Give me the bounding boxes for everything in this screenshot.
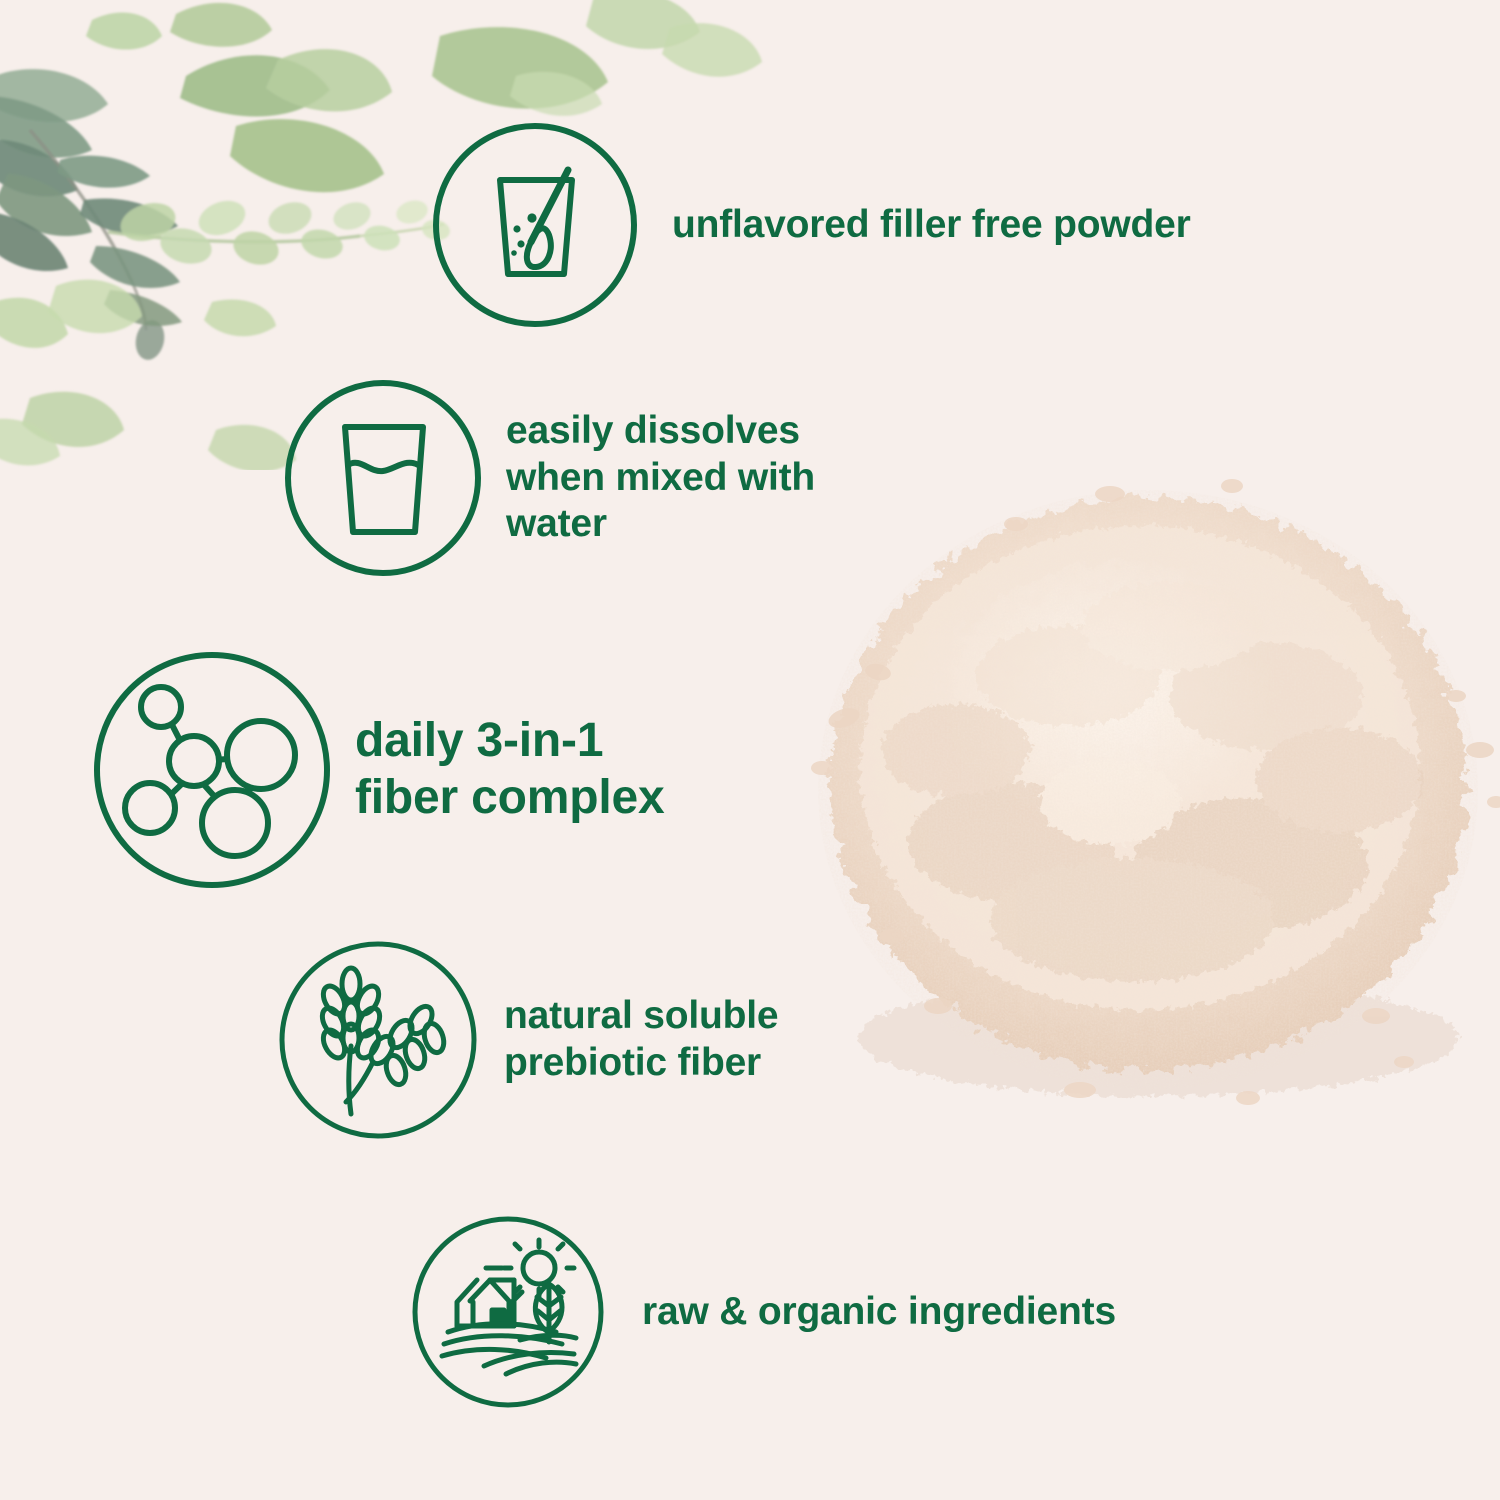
feature-icon-badge [278, 940, 478, 1140]
wheat-stalks-icon [278, 940, 478, 1140]
feature-natural-soluble-prebiotic-fiber: natural soluble prebiotic fiber [278, 940, 778, 1140]
feature-label: unflavored filler free powder [672, 202, 1191, 249]
feature-label: easily dissolves when mixed with water [506, 408, 815, 548]
fiber-powder-image [780, 450, 1500, 1150]
product-feature-infographic: unflavored filler free powder easily dis… [0, 0, 1500, 1500]
feature-daily-3-in-1-fiber-complex: daily 3-in-1 fiber complex [93, 651, 665, 889]
feature-label: natural soluble prebiotic fiber [504, 993, 778, 1087]
farmhouse-sun-field-icon [410, 1214, 606, 1410]
feature-icon-badge [284, 379, 482, 577]
cup-with-spoon-and-powder-icon [432, 122, 638, 328]
feature-raw-and-organic-ingredients: raw & organic ingredients [410, 1214, 1116, 1410]
feature-unflavored-filler-free-powder: unflavored filler free powder [432, 122, 1191, 328]
glass-of-water-icon [284, 379, 482, 577]
molecule-fiber-complex-icon [93, 651, 331, 889]
feature-label: raw & organic ingredients [642, 1289, 1116, 1336]
feature-icon-badge [432, 122, 638, 328]
feature-easily-dissolves-when-mixed-with-water: easily dissolves when mixed with water [284, 379, 815, 577]
feature-label: daily 3-in-1 fiber complex [355, 713, 665, 826]
feature-icon-badge [93, 651, 331, 889]
feature-icon-badge [410, 1214, 606, 1410]
